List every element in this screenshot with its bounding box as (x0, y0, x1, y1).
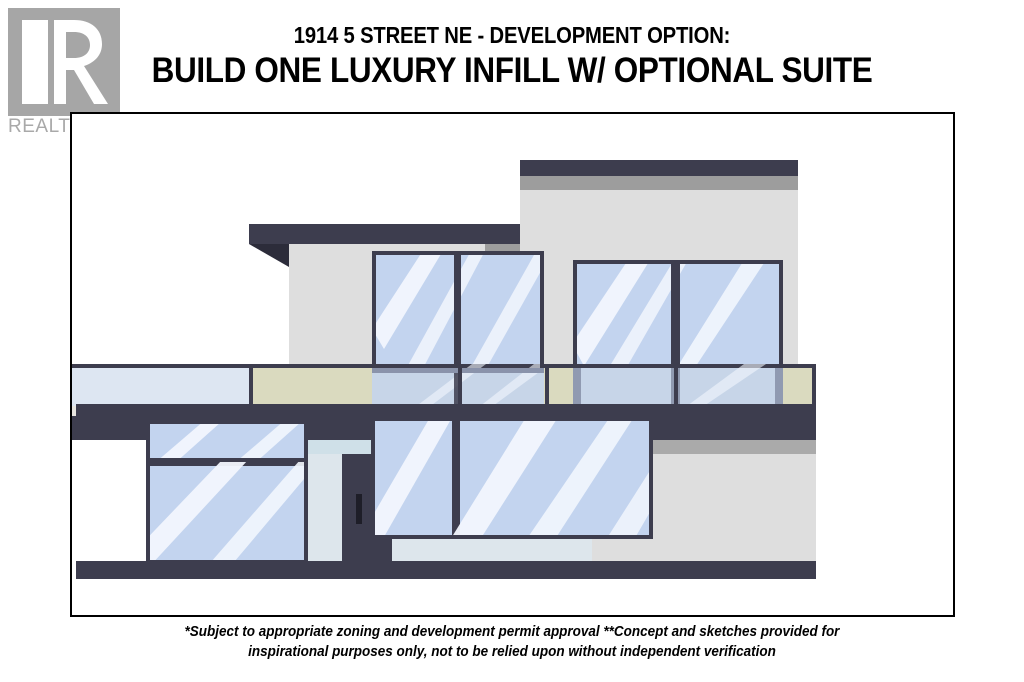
balcony-window-edge-right-lower (775, 368, 783, 406)
railing-post-3 (545, 368, 549, 406)
front-door-handle (356, 494, 362, 524)
railing-post-4 (674, 368, 678, 406)
balcony-rail-top (72, 364, 816, 368)
upper-right-window-mullion (671, 260, 680, 368)
upper-left-roof-overhang (249, 224, 520, 244)
page-title: 1914 5 STREET NE - DEVELOPMENT OPTION: B… (0, 22, 1024, 92)
page-title-line-1: 1914 5 STREET NE - DEVELOPMENT OPTION: (61, 22, 962, 48)
disclaimer-line-1: *Subject to appropriate zoning and devel… (36, 622, 988, 642)
upper-right-roof-band (520, 160, 798, 176)
disclaimer-line-2: inspirational purposes only, not to be r… (36, 642, 988, 662)
balcony-railing-glass-left (72, 368, 249, 406)
house-elevation-illustration (72, 114, 955, 617)
railing-post-1 (249, 368, 253, 406)
ground-right-window-mullion (452, 417, 460, 539)
foundation-band (76, 561, 816, 579)
illustration-frame (70, 112, 955, 617)
upper-right-roof-shadow (520, 176, 798, 190)
balcony-window-edge-lower (573, 368, 581, 406)
railing-post-5 (812, 368, 816, 406)
upper-left-patio-door-mullion (454, 251, 461, 368)
page-title-line-2: BUILD ONE LUXURY INFILL W/ OPTIONAL SUIT… (51, 50, 973, 92)
disclaimer-note: *Subject to appropriate zoning and devel… (0, 622, 1024, 662)
